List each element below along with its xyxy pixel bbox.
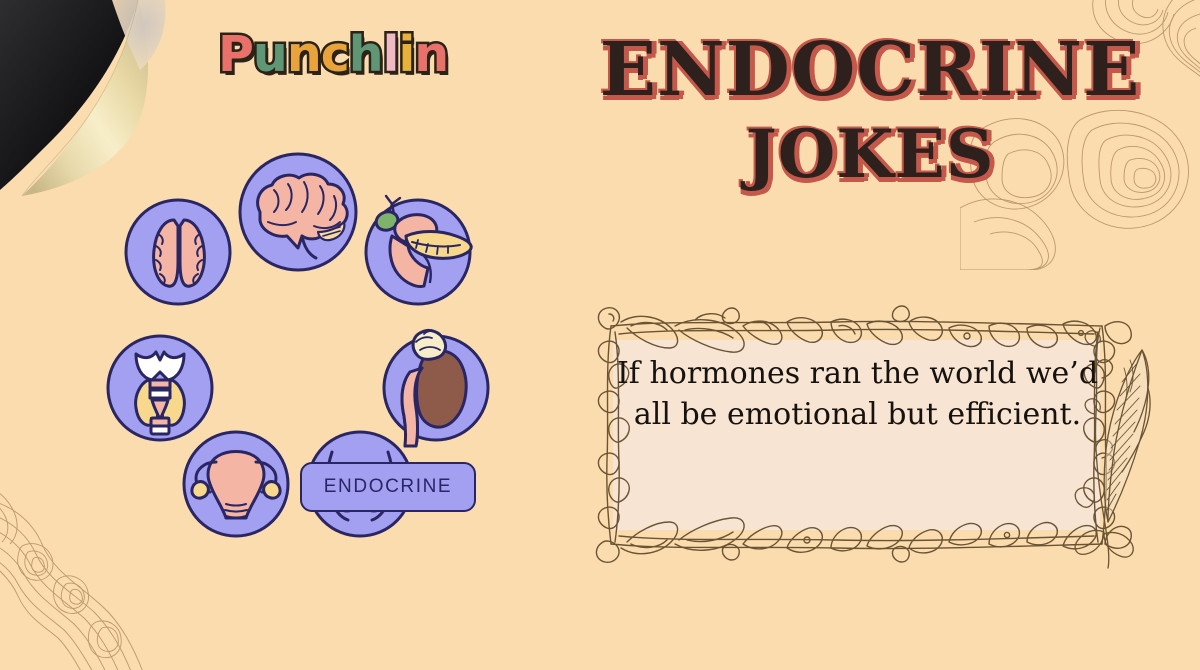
logo-letter: i xyxy=(398,30,414,79)
center-label-text: ENDOCRINE xyxy=(324,476,452,498)
quote-card: If hormones ran the world we’d all be em… xyxy=(575,292,1138,575)
logo-letter: n xyxy=(414,30,448,79)
logo-letter: n xyxy=(287,30,321,79)
diagram-center-label: ENDOCRINE xyxy=(300,462,476,512)
page-title: ENDOCRINE JOKES xyxy=(560,34,1180,202)
organ-node-kidney-adrenal xyxy=(384,330,488,446)
logo-letter: P xyxy=(218,30,253,79)
joke-text: If hormones ran the world we’d all be em… xyxy=(605,354,1110,436)
organ-node-uterus-ovaries xyxy=(184,432,288,536)
organ-node-thymus xyxy=(126,200,230,304)
logo-letter: u xyxy=(253,30,287,79)
poster-canvas: Punchlin ENDOCRINE JOKES xyxy=(0,0,1200,670)
title-line-1: ENDOCRINE xyxy=(560,34,1180,107)
logo-letter: h xyxy=(349,30,383,79)
organ-node-thyroid xyxy=(108,336,212,440)
logo-letter: l xyxy=(383,30,399,79)
title-line-2: JOKES xyxy=(560,107,1180,203)
logo-letter: c xyxy=(321,30,349,79)
brand-logo[interactable]: Punchlin xyxy=(218,30,448,79)
organ-node-brain xyxy=(240,154,356,270)
endocrine-diagram: ENDOCRINE xyxy=(88,140,508,540)
organ-node-pancreas xyxy=(366,196,471,304)
